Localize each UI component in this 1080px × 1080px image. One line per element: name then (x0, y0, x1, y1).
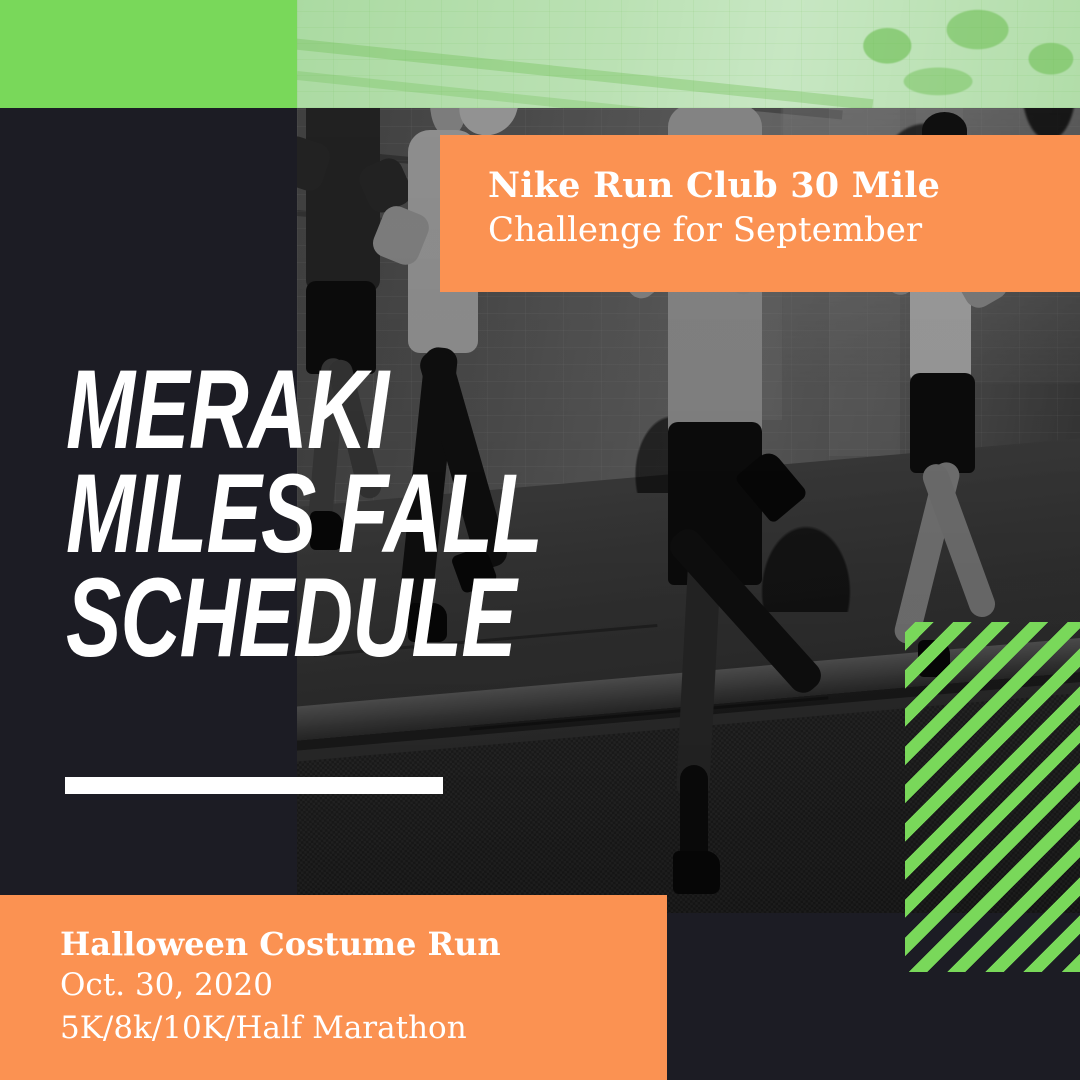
poster-canvas: Nike Run Club 30 Mile Challenge for Sept… (0, 0, 1080, 1080)
green-band-shadow (297, 71, 765, 108)
title-divider-rule (65, 777, 443, 794)
title-line-2: MILES FALL (66, 462, 451, 566)
challenge-banner-line1: Nike Run Club 30 Mile (488, 165, 1080, 206)
title-line-1: MERAKI (66, 358, 451, 462)
green-top-band-duotone (297, 0, 1080, 108)
green-band-shadow (297, 37, 874, 108)
event-details-box: Halloween Costume Run Oct. 30, 2020 5K/8… (0, 895, 667, 1080)
challenge-banner-line2: Challenge for September (488, 206, 1080, 254)
event-distances: 5K/8k/10K/Half Marathon (60, 1007, 667, 1050)
green-band-photo (297, 0, 1080, 108)
page-title: MERAKI MILES FALL SCHEDULE (66, 358, 586, 670)
diagonal-stripe-block (905, 622, 1080, 972)
event-name: Halloween Costume Run (60, 925, 667, 964)
challenge-banner: Nike Run Club 30 Mile Challenge for Sept… (440, 135, 1080, 292)
title-line-3: SCHEDULE (66, 566, 451, 670)
green-top-band-solid (0, 0, 297, 108)
green-band-trees (814, 0, 1080, 108)
event-date: Oct. 30, 2020 (60, 964, 667, 1007)
